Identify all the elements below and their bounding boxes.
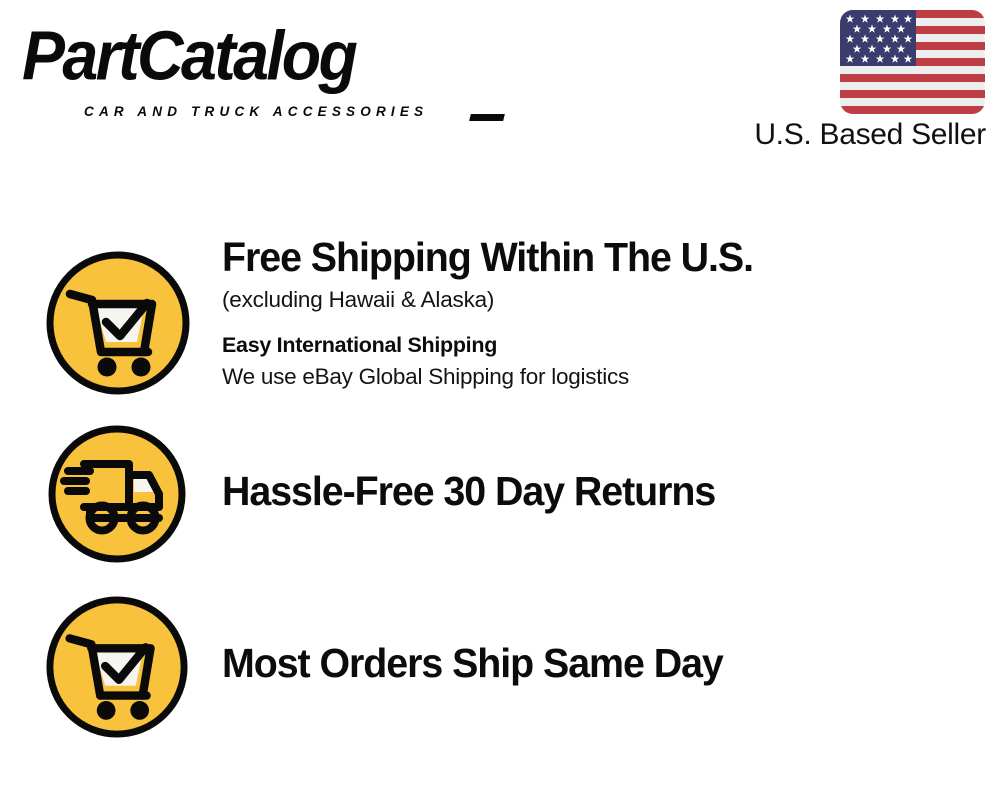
- seller-location-label: U.S. Based Seller: [754, 118, 986, 152]
- brand-logo: PartCatalog CAR AND TRUCK ACCESSORIES: [22, 18, 492, 114]
- feature-subline: (excluding Hawaii & Alaska): [222, 284, 962, 316]
- feature-text-returns: Hassle-Free 30 Day Returns: [222, 467, 962, 516]
- feature-icon-free-shipping: [44, 249, 192, 397]
- logo-swoosh-icon: [469, 114, 505, 121]
- seller-info-banner: PartCatalog CAR AND TRUCK ACCESSORIES: [0, 0, 1000, 800]
- feature-subhead-note: We use eBay Global Shipping for logistic…: [222, 361, 962, 393]
- brand-tagline: CAR AND TRUCK ACCESSORIES: [84, 104, 428, 119]
- feature-text-same-day: Most Orders Ship Same Day: [222, 639, 962, 688]
- feature-headline: Hassle-Free 30 Day Returns: [222, 467, 932, 516]
- feature-headline: Most Orders Ship Same Day: [222, 639, 932, 688]
- feature-icon-returns: [46, 423, 188, 565]
- feature-icon-same-day: [44, 594, 190, 740]
- feature-text-free-shipping: Free Shipping Within The U.S. (excluding…: [222, 233, 962, 393]
- feature-subhead: Easy International Shipping: [222, 330, 962, 361]
- us-flag-icon: [840, 10, 985, 114]
- feature-headline: Free Shipping Within The U.S.: [222, 233, 932, 282]
- brand-wordmark: PartCatalog: [22, 18, 511, 96]
